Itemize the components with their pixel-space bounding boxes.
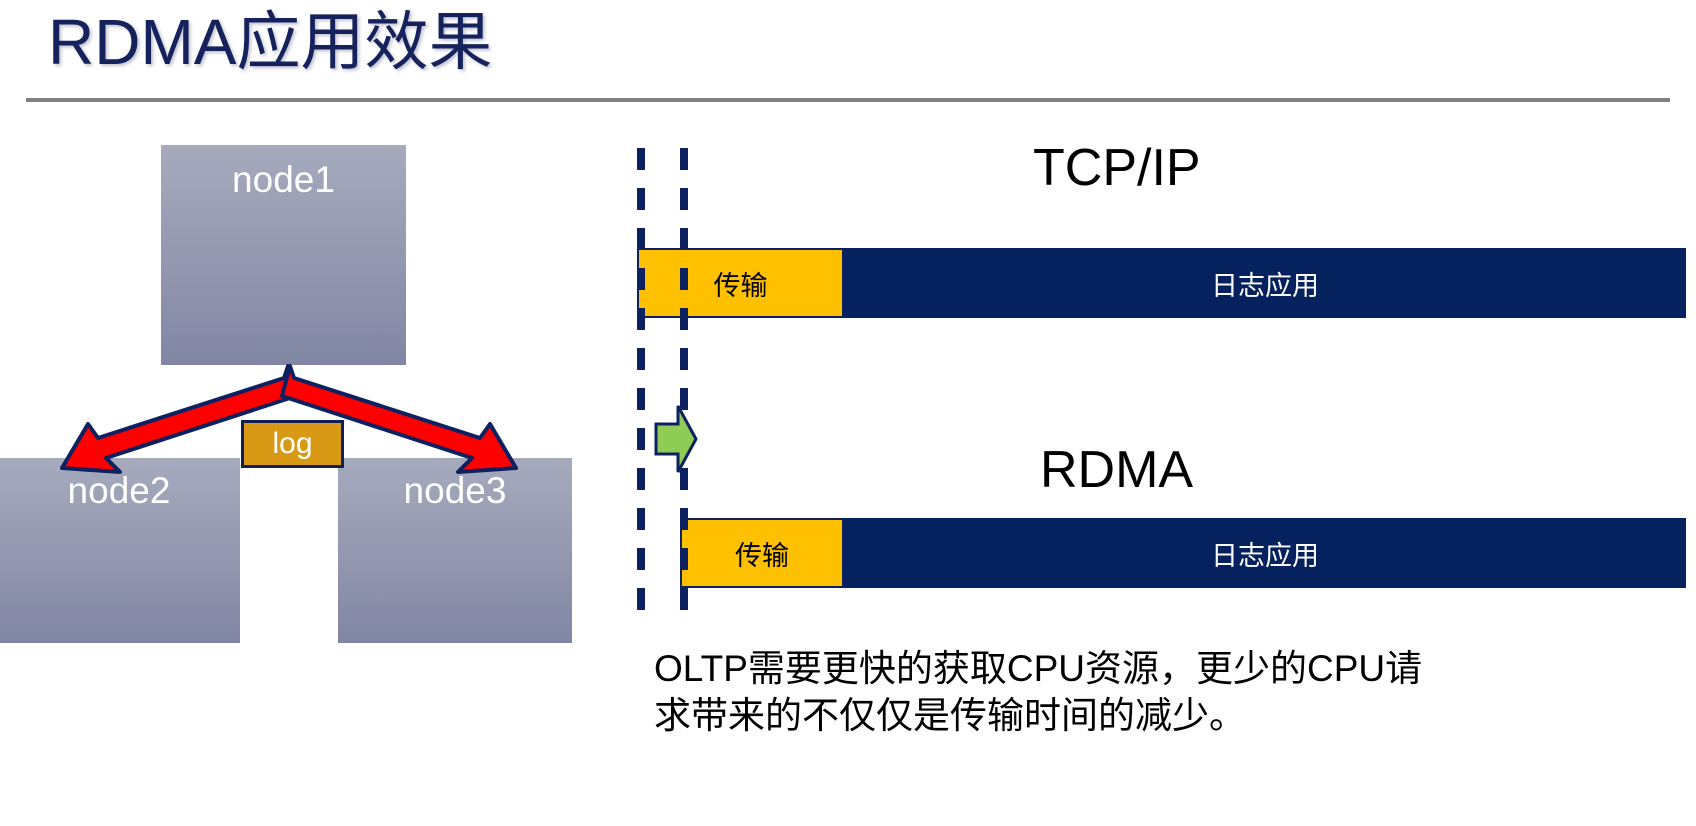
rdma-apply-segment: 日志应用: [844, 518, 1686, 588]
timeline-bar-rdma: 传输 日志应用: [680, 518, 1686, 588]
page-title: RDMA应用效果: [48, 2, 492, 82]
rdma-transfer-segment: 传输: [680, 518, 844, 588]
timeline-bar-tcpip: 传输 日志应用: [637, 248, 1686, 318]
caption-line-2: 求带来的不仅仅是传输时间的减少。: [654, 692, 1664, 739]
log-box: log: [241, 420, 344, 468]
tcpip-apply-segment: 日志应用: [844, 248, 1686, 318]
title-divider: [26, 98, 1670, 102]
node1-label: node1: [232, 159, 335, 200]
transition-right-arrow-icon: [652, 404, 698, 474]
node-box-node1: node1: [161, 145, 406, 365]
protocol-label-tcpip: TCP/IP: [1033, 138, 1201, 198]
timeline-dashed-line-start: [637, 148, 645, 626]
caption-text: OLTP需要更快的获取CPU资源，更少的CPU请 求带来的不仅仅是传输时间的减少…: [654, 645, 1664, 739]
slide-canvas: RDMA应用效果 node1 node2 node3 log TCP/IP RD…: [0, 0, 1696, 826]
node3-label: node3: [404, 470, 507, 511]
tcpip-transfer-segment: 传输: [637, 248, 844, 318]
node2-label: node2: [68, 470, 171, 511]
timeline-dashed-line-offset: [680, 148, 688, 626]
node-box-node3: node3: [338, 458, 572, 643]
log-box-label: log: [272, 427, 312, 460]
caption-line-1: OLTP需要更快的获取CPU资源，更少的CPU请: [654, 645, 1664, 692]
protocol-label-rdma: RDMA: [1040, 440, 1193, 500]
node-box-node2: node2: [0, 458, 240, 643]
